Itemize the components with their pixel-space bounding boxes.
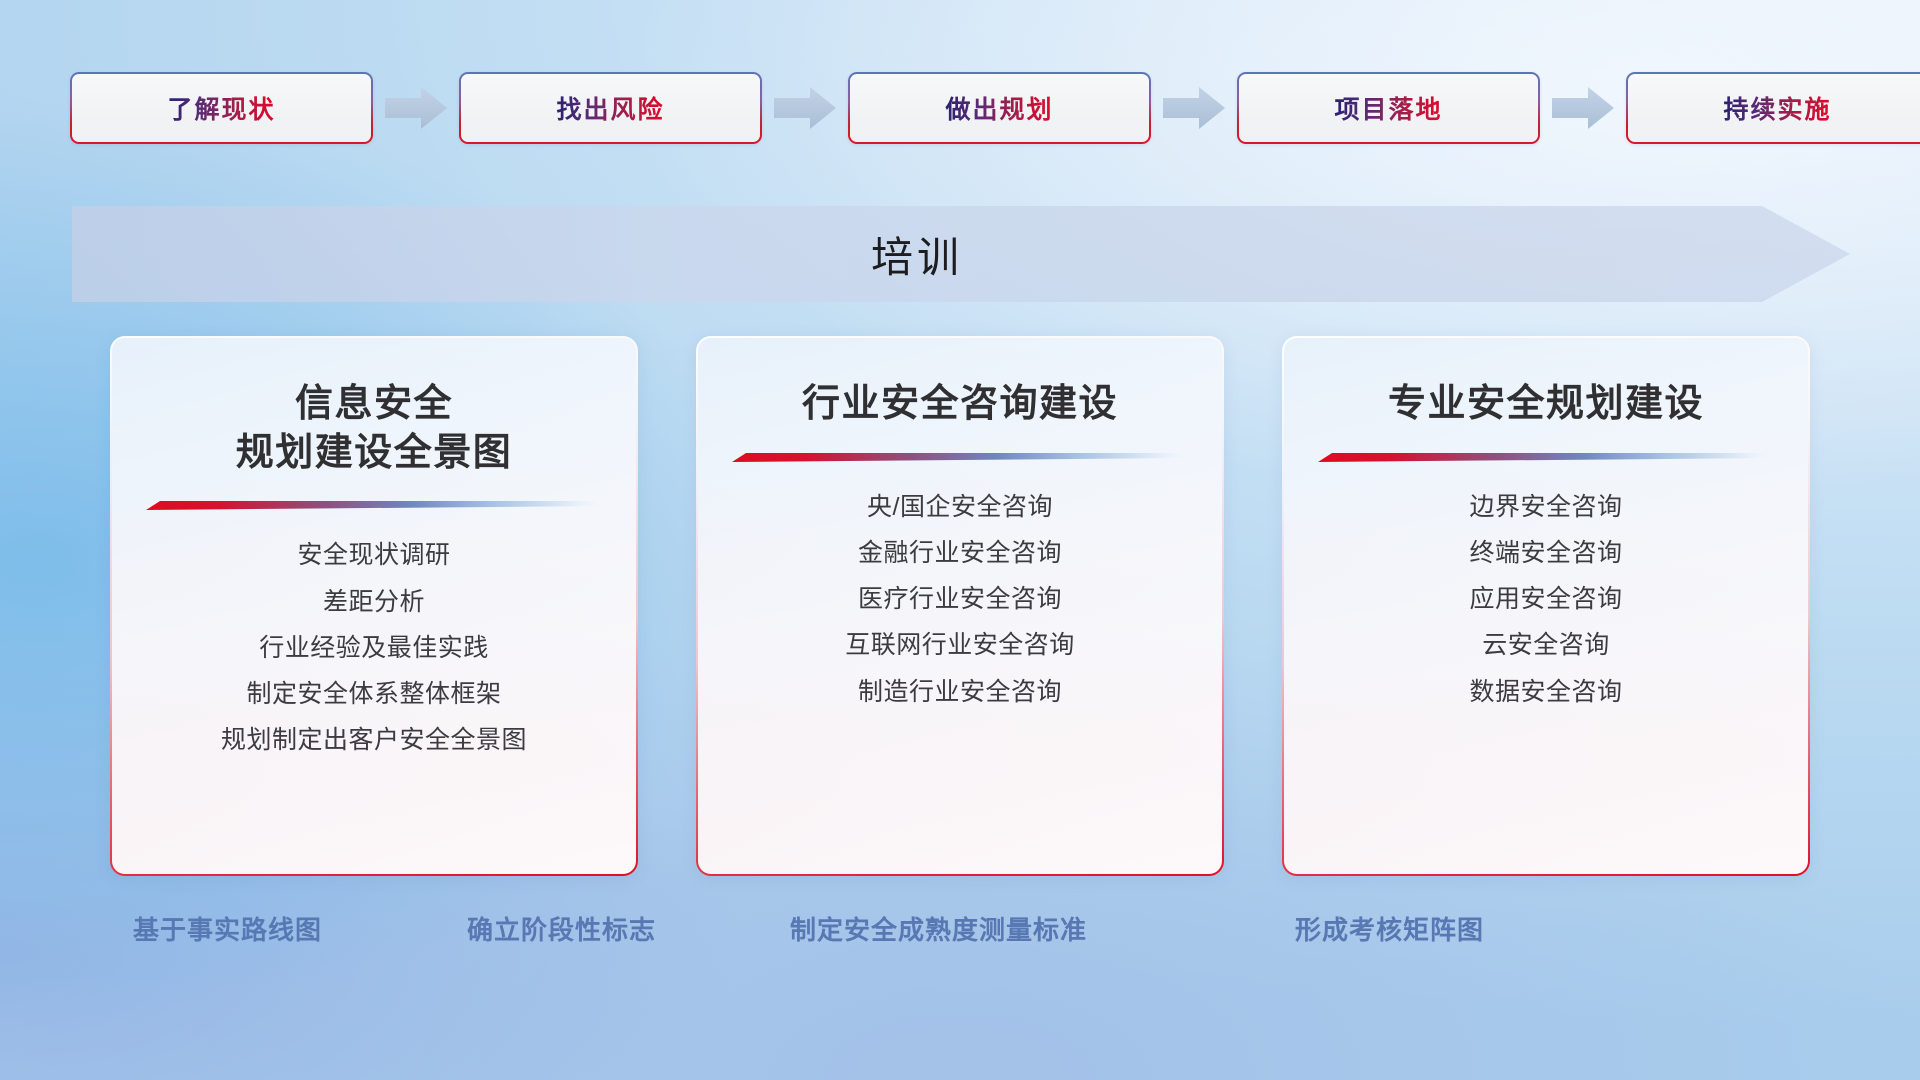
footer-label-1: 基于事实路线图 [133, 910, 322, 947]
tapered-divider-icon [732, 451, 1188, 463]
step-box-3[interactable]: 做出规划 [848, 72, 1151, 144]
card-inner: 专业安全规划建设 边界安全咨询 终端安全咨询 应用安全咨询 云安全咨询 数据安全… [1284, 338, 1808, 874]
right-arrow-icon [383, 86, 449, 130]
list-item: 互联网行业安全咨询 [845, 627, 1075, 663]
tapered-divider-icon [1318, 451, 1774, 463]
footer-label-4: 形成考核矩阵图 [1295, 910, 1484, 947]
list-item: 数据安全咨询 [1469, 674, 1622, 710]
step-box-inner: 持续实施 [1628, 74, 1920, 142]
footer-label-3: 制定安全成熟度测量标准 [790, 910, 1087, 947]
right-arrow-icon [772, 86, 838, 130]
step-box-2[interactable]: 找出风险 [459, 72, 762, 144]
card-item-list: 边界安全咨询 终端安全咨询 应用安全咨询 云安全咨询 数据安全咨询 [1284, 489, 1808, 710]
list-item: 差距分析 [323, 584, 425, 620]
step-label: 项目落地 [1334, 90, 1442, 126]
list-item: 终端安全咨询 [1469, 535, 1622, 571]
list-item: 安全现状调研 [297, 537, 450, 573]
list-item: 应用安全咨询 [1469, 581, 1622, 617]
card-title: 信息安全 规划建设全景图 [236, 380, 513, 477]
card-item-list: 安全现状调研 差距分析 行业经验及最佳实践 制定安全体系整体框架 规划制定出客户… [112, 537, 636, 758]
tapered-divider-icon [146, 499, 602, 511]
card-item-list: 央/国企安全咨询 金融行业安全咨询 医疗行业安全咨询 互联网行业安全咨询 制造行… [698, 489, 1222, 710]
step-label: 了解现状 [167, 90, 275, 126]
card-2[interactable]: 行业安全咨询建设 央/国企安全咨询 金融行业安全咨询 医疗行业安全咨询 互联网行… [696, 336, 1224, 876]
card-inner: 信息安全 规划建设全景图 安全现状调研 差距分析 行业经验及最佳实践 制定安全体… [112, 338, 636, 874]
training-banner: 培训 [72, 206, 1850, 302]
list-item: 金融行业安全咨询 [858, 535, 1062, 571]
list-item: 央/国企安全咨询 [867, 489, 1053, 525]
right-arrow-icon [1550, 86, 1616, 130]
card-inner: 行业安全咨询建设 央/国企安全咨询 金融行业安全咨询 医疗行业安全咨询 互联网行… [698, 338, 1222, 874]
list-item: 规划制定出客户安全全景图 [221, 722, 527, 758]
step-label: 找出风险 [556, 90, 664, 126]
step-box-inner: 找出风险 [461, 74, 760, 142]
process-step-row: 了解现状 找出风险 做出规划 项目落地 [70, 72, 1850, 144]
card-1[interactable]: 信息安全 规划建设全景图 安全现状调研 差距分析 行业经验及最佳实践 制定安全体… [110, 336, 638, 876]
list-item: 制定安全体系整体框架 [246, 676, 501, 712]
step-box-inner: 做出规划 [850, 74, 1149, 142]
list-item: 医疗行业安全咨询 [858, 581, 1062, 617]
list-item: 行业经验及最佳实践 [259, 630, 489, 666]
right-arrow-icon [1161, 86, 1227, 130]
step-label: 持续实施 [1723, 90, 1831, 126]
card-title: 行业安全咨询建设 [802, 380, 1118, 429]
card-row: 信息安全 规划建设全景图 安全现状调研 差距分析 行业经验及最佳实践 制定安全体… [110, 336, 1810, 876]
step-box-1[interactable]: 了解现状 [70, 72, 373, 144]
step-box-inner: 项目落地 [1239, 74, 1538, 142]
list-item: 制造行业安全咨询 [858, 674, 1062, 710]
list-item: 云安全咨询 [1482, 627, 1610, 663]
footer-label-row: 基于事实路线图 确立阶段性标志 制定安全成熟度测量标准 形成考核矩阵图 [0, 910, 1920, 964]
banner-label: 培训 [72, 206, 1762, 302]
step-label: 做出规划 [945, 90, 1053, 126]
card-title: 专业安全规划建设 [1388, 380, 1704, 429]
card-3[interactable]: 专业安全规划建设 边界安全咨询 终端安全咨询 应用安全咨询 云安全咨询 数据安全… [1282, 336, 1810, 876]
step-box-5[interactable]: 持续实施 [1626, 72, 1920, 144]
step-box-inner: 了解现状 [72, 74, 371, 142]
step-box-4[interactable]: 项目落地 [1237, 72, 1540, 144]
footer-label-2: 确立阶段性标志 [467, 910, 656, 947]
list-item: 边界安全咨询 [1469, 489, 1622, 525]
